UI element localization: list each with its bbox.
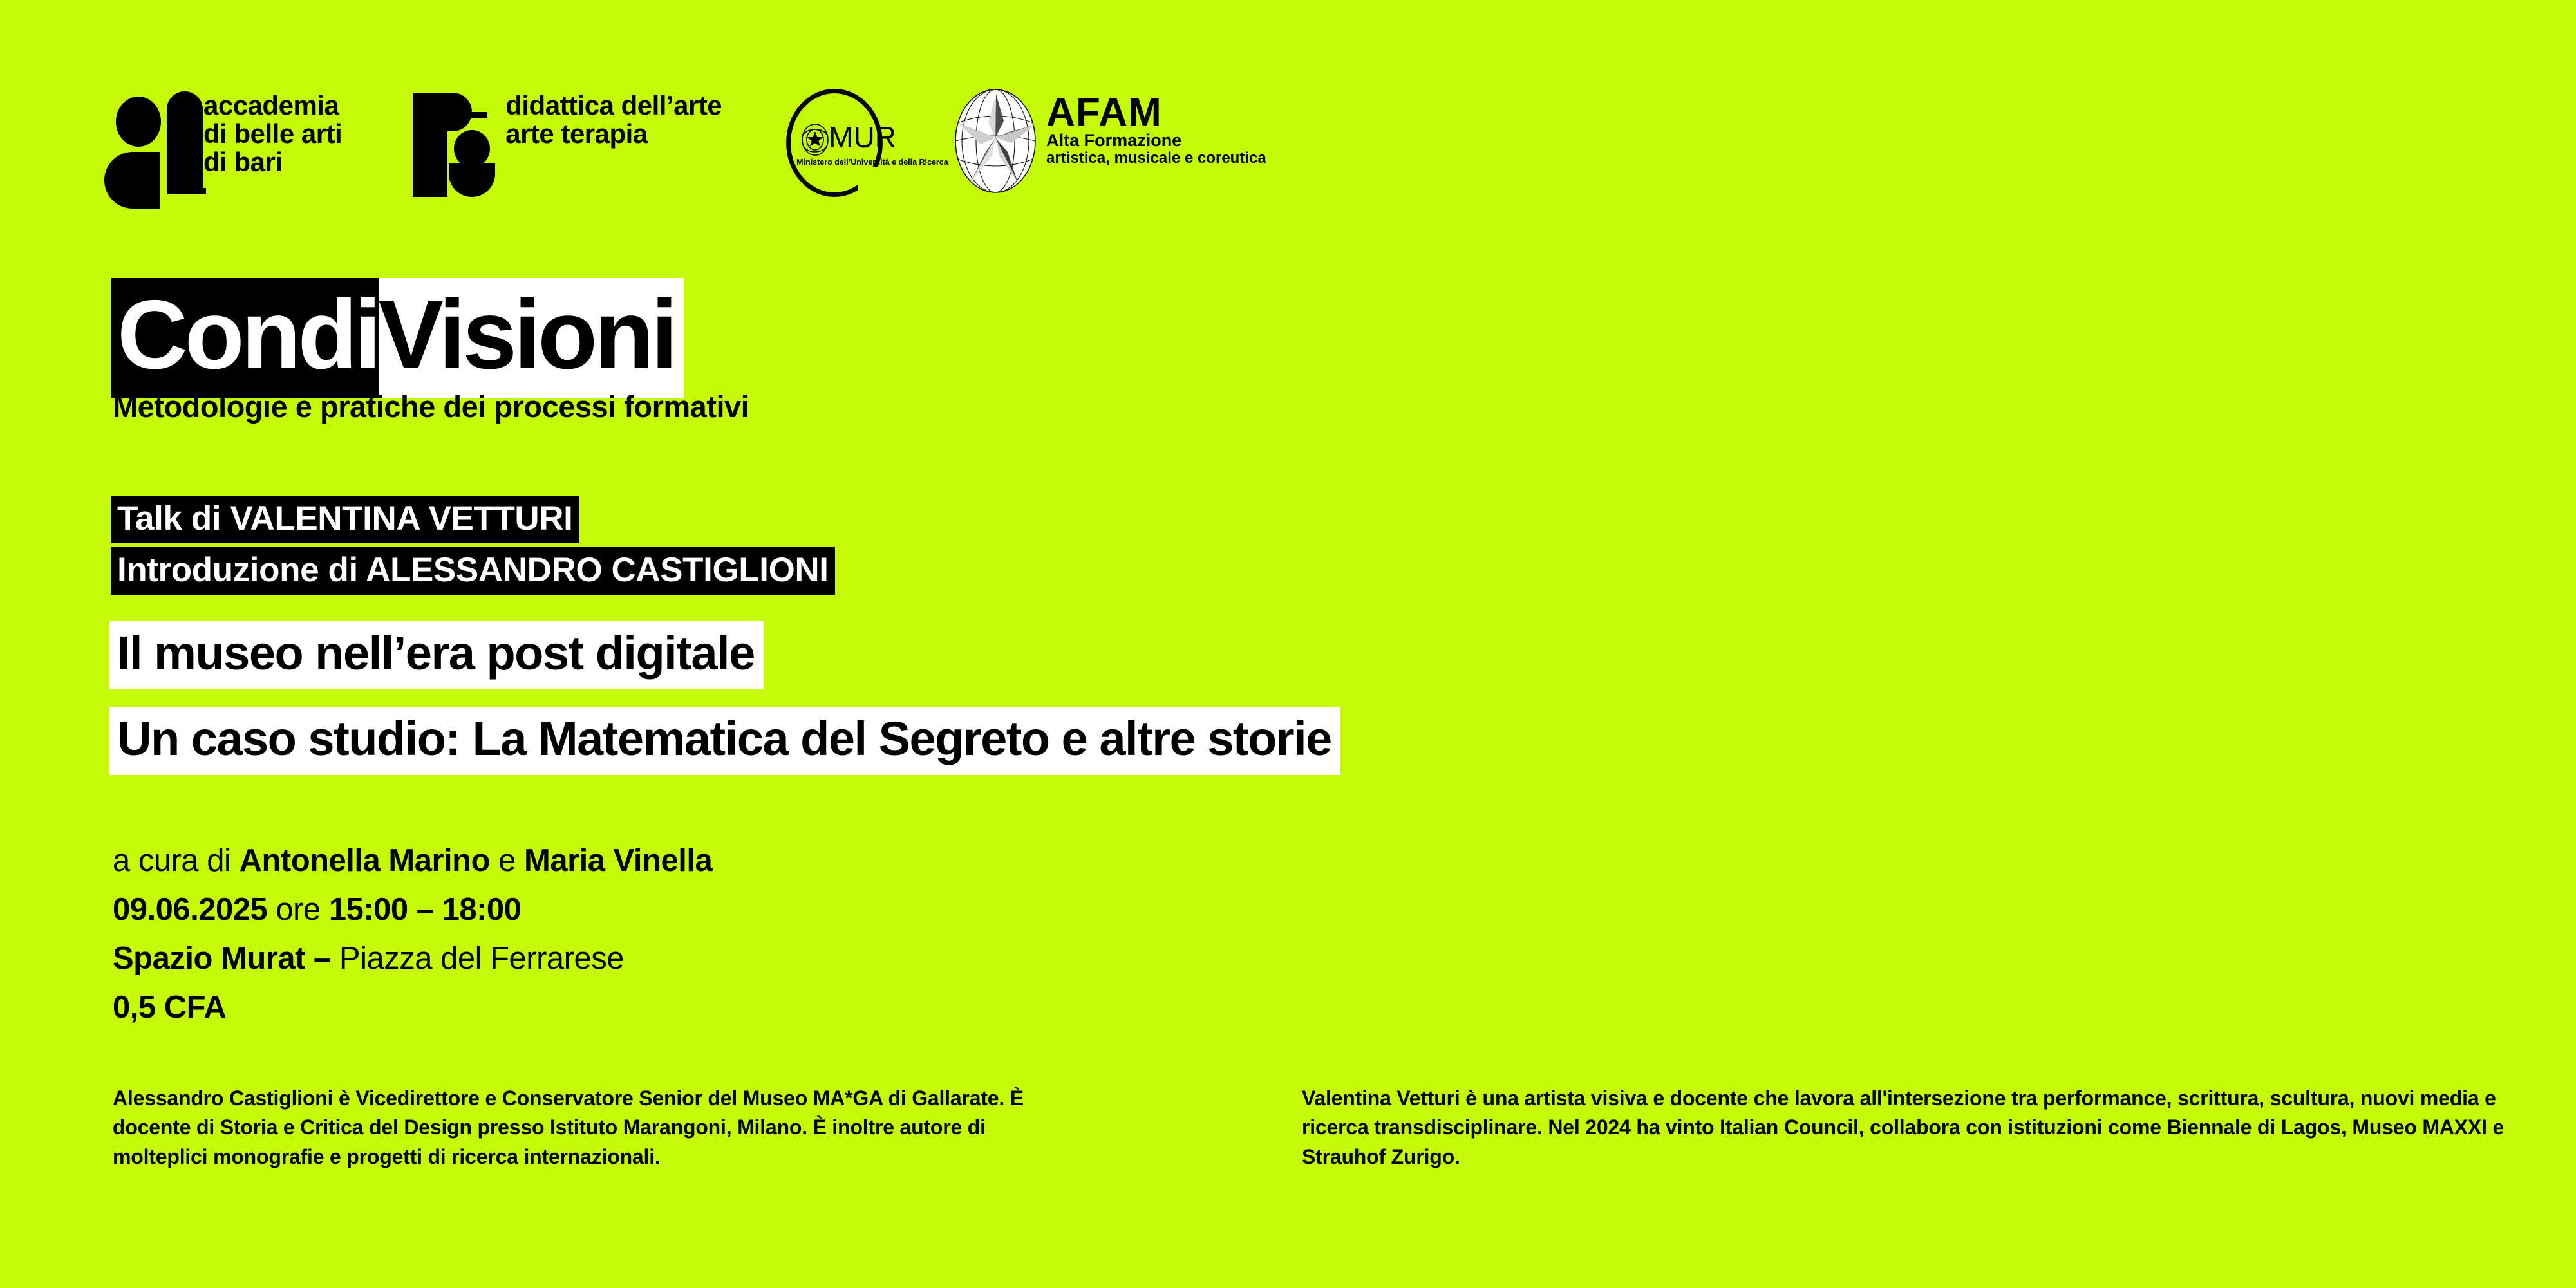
event-brand-subtitle: Metodologie e pratiche dei processi form…	[113, 391, 749, 422]
event-details: a cura di Antonella Marino e Maria Vinel…	[113, 837, 712, 1032]
event-venue: Spazio Murat –	[113, 941, 339, 976]
speaker-intro-line: Introduzione di ALESSANDRO CASTIGLIONI	[111, 547, 835, 595]
afam-globe-star-icon	[954, 88, 1037, 194]
brand-part-visioni: Visioni	[379, 278, 684, 398]
curators-join: e	[490, 843, 524, 878]
logo-didattica-dellarte-arte-terapia: didattica dell’arte arte terapia	[342, 88, 722, 198]
partner-logo-bar: accademia di belle arti di bari didattic…	[113, 88, 1266, 203]
curator-2: Maria Vinella	[524, 843, 712, 878]
accademia-ab-monogram-icon	[113, 88, 189, 198]
detail-curators: a cura di Antonella Marino e Maria Vinel…	[113, 837, 712, 886]
event-credits: 0,5 CFA	[113, 990, 226, 1025]
afam-line1: Alta Formazione	[1046, 131, 1266, 150]
logo-didattica-wordmark: didattica dell’arte arte terapia	[505, 88, 722, 148]
event-brand-title: Condi Visioni	[111, 278, 684, 398]
event-time: 15:00 – 18:00	[329, 892, 522, 927]
event-venue-address: Piazza del Ferrarese	[339, 941, 624, 976]
talk-title-line-2: Un caso studio: La Matematica del Segret…	[109, 707, 1340, 775]
afam-acronym: AFAM	[1046, 94, 1266, 131]
speaker-talk-line: Talk di VALENTINA VETTURI	[111, 496, 579, 543]
detail-venue: Spazio Murat – Piazza del Ferrarese	[113, 935, 712, 984]
afam-wordmark: AFAM Alta Formazione artistica, musicale…	[1046, 88, 1266, 167]
afam-line2: artistica, musicale e coreutica	[1046, 150, 1266, 167]
detail-datetime: 09.06.2025 ore 15:00 – 18:00	[113, 886, 712, 935]
logo-accademia-line1: accademia	[203, 91, 342, 120]
brand-part-condi: Condi	[111, 278, 379, 398]
logo-didattica-line2: arte terapia	[505, 120, 722, 148]
event-time-label: ore	[267, 892, 329, 927]
logo-afam: AFAM Alta Formazione artistica, musicale…	[954, 88, 1266, 194]
logo-didattica-line1: didattica dell’arte	[505, 91, 722, 120]
italian-republic-emblem-icon	[800, 122, 830, 157]
bio-alessandro-castiglioni: Alessandro Castiglioni è Vicedirettore e…	[113, 1084, 1078, 1171]
logo-mur: MUR Ministero dell’Università e della Ri…	[782, 88, 892, 198]
logo-accademia-di-belle-arti-di-bari: accademia di belle arti di bari	[113, 88, 342, 198]
bio-valentina-vetturi: Valentina Vetturi è una artista visiva e…	[1302, 1084, 2525, 1171]
didattica-monogram-icon	[413, 88, 491, 198]
logo-accademia-line3: di bari	[203, 148, 342, 176]
logo-accademia-wordmark: accademia di belle arti di bari	[203, 88, 342, 176]
talk-title-line-1: Il museo nell’era post digitale	[109, 621, 764, 689]
curators-prefix: a cura di	[113, 843, 240, 878]
curator-1: Antonella Marino	[240, 843, 490, 878]
event-date: 09.06.2025	[113, 892, 267, 927]
logo-accademia-line2: di belle arti	[203, 120, 342, 148]
mur-acronym: MUR	[829, 122, 896, 152]
mur-subtitle: Ministero dell’Università e della Ricerc…	[796, 158, 948, 167]
detail-credits: 0,5 CFA	[113, 984, 712, 1032]
